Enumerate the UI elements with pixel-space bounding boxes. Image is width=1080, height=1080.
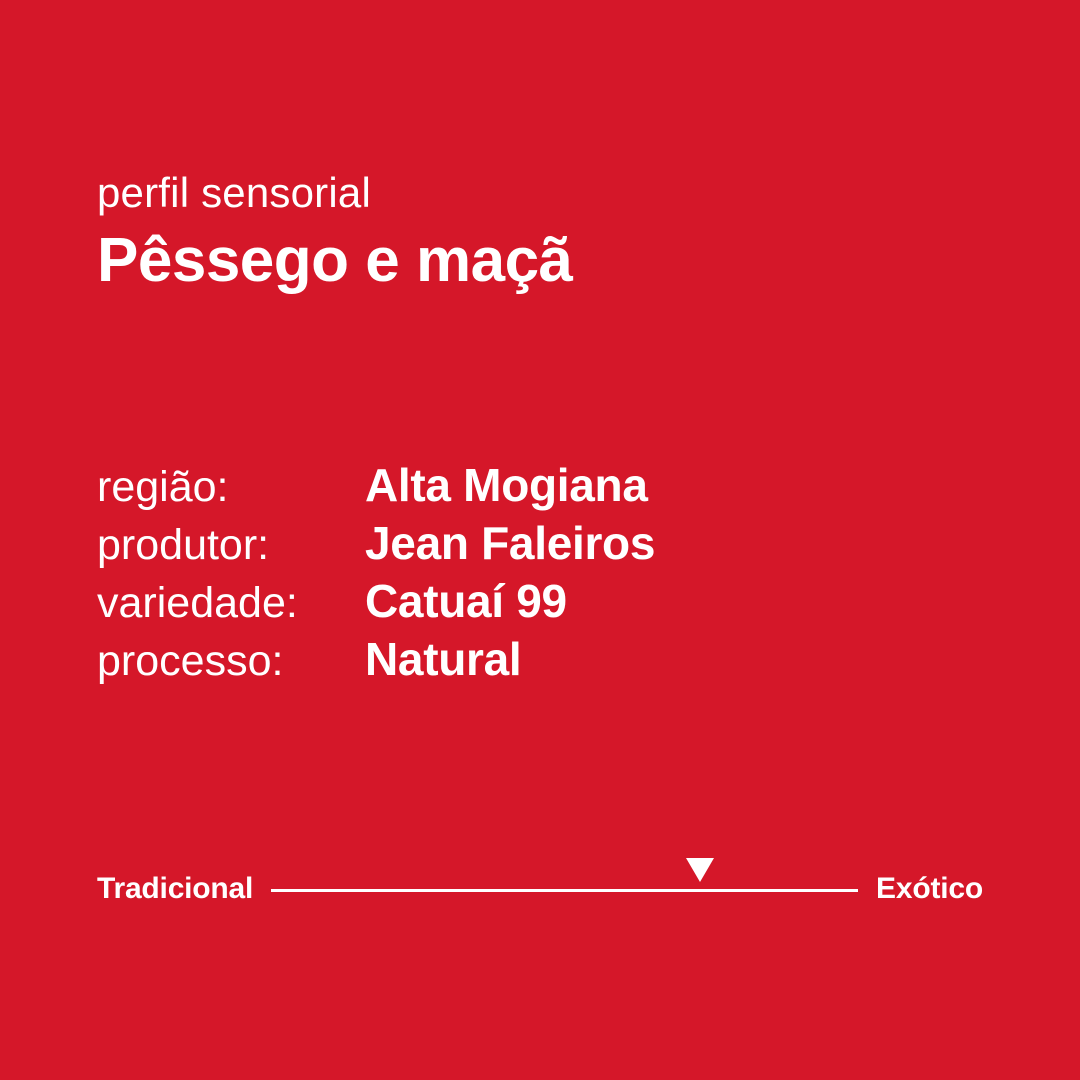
triangle-down-icon[interactable] <box>686 858 714 882</box>
detail-label: variedade: <box>97 582 365 625</box>
detail-value: Catuaí 99 <box>365 578 567 624</box>
header-block: perfil sensorial Pêssego e maçã <box>97 172 573 292</box>
scale-label-right: Exótico <box>876 874 983 904</box>
eyebrow-label: perfil sensorial <box>97 172 573 214</box>
detail-value: Natural <box>365 636 521 682</box>
detail-row-processo: processo: Natural <box>97 636 655 694</box>
flavor-scale: Tradicional Exótico <box>97 868 983 910</box>
detail-row-variedade: variedade: Catuaí 99 <box>97 578 655 636</box>
scale-label-left: Tradicional <box>97 874 253 904</box>
details-list: região: Alta Mogiana produtor: Jean Fale… <box>97 462 655 694</box>
detail-value: Jean Faleiros <box>365 520 655 566</box>
detail-label: produtor: <box>97 524 365 567</box>
scale-line <box>271 889 858 892</box>
detail-label: região: <box>97 466 365 509</box>
detail-row-produtor: produtor: Jean Faleiros <box>97 520 655 578</box>
scale-track[interactable] <box>271 868 858 910</box>
sensory-profile-card: perfil sensorial Pêssego e maçã região: … <box>0 0 1080 1080</box>
detail-row-regiao: região: Alta Mogiana <box>97 462 655 520</box>
page-title: Pêssego e maçã <box>97 230 573 292</box>
detail-label: processo: <box>97 640 365 683</box>
detail-value: Alta Mogiana <box>365 462 648 508</box>
